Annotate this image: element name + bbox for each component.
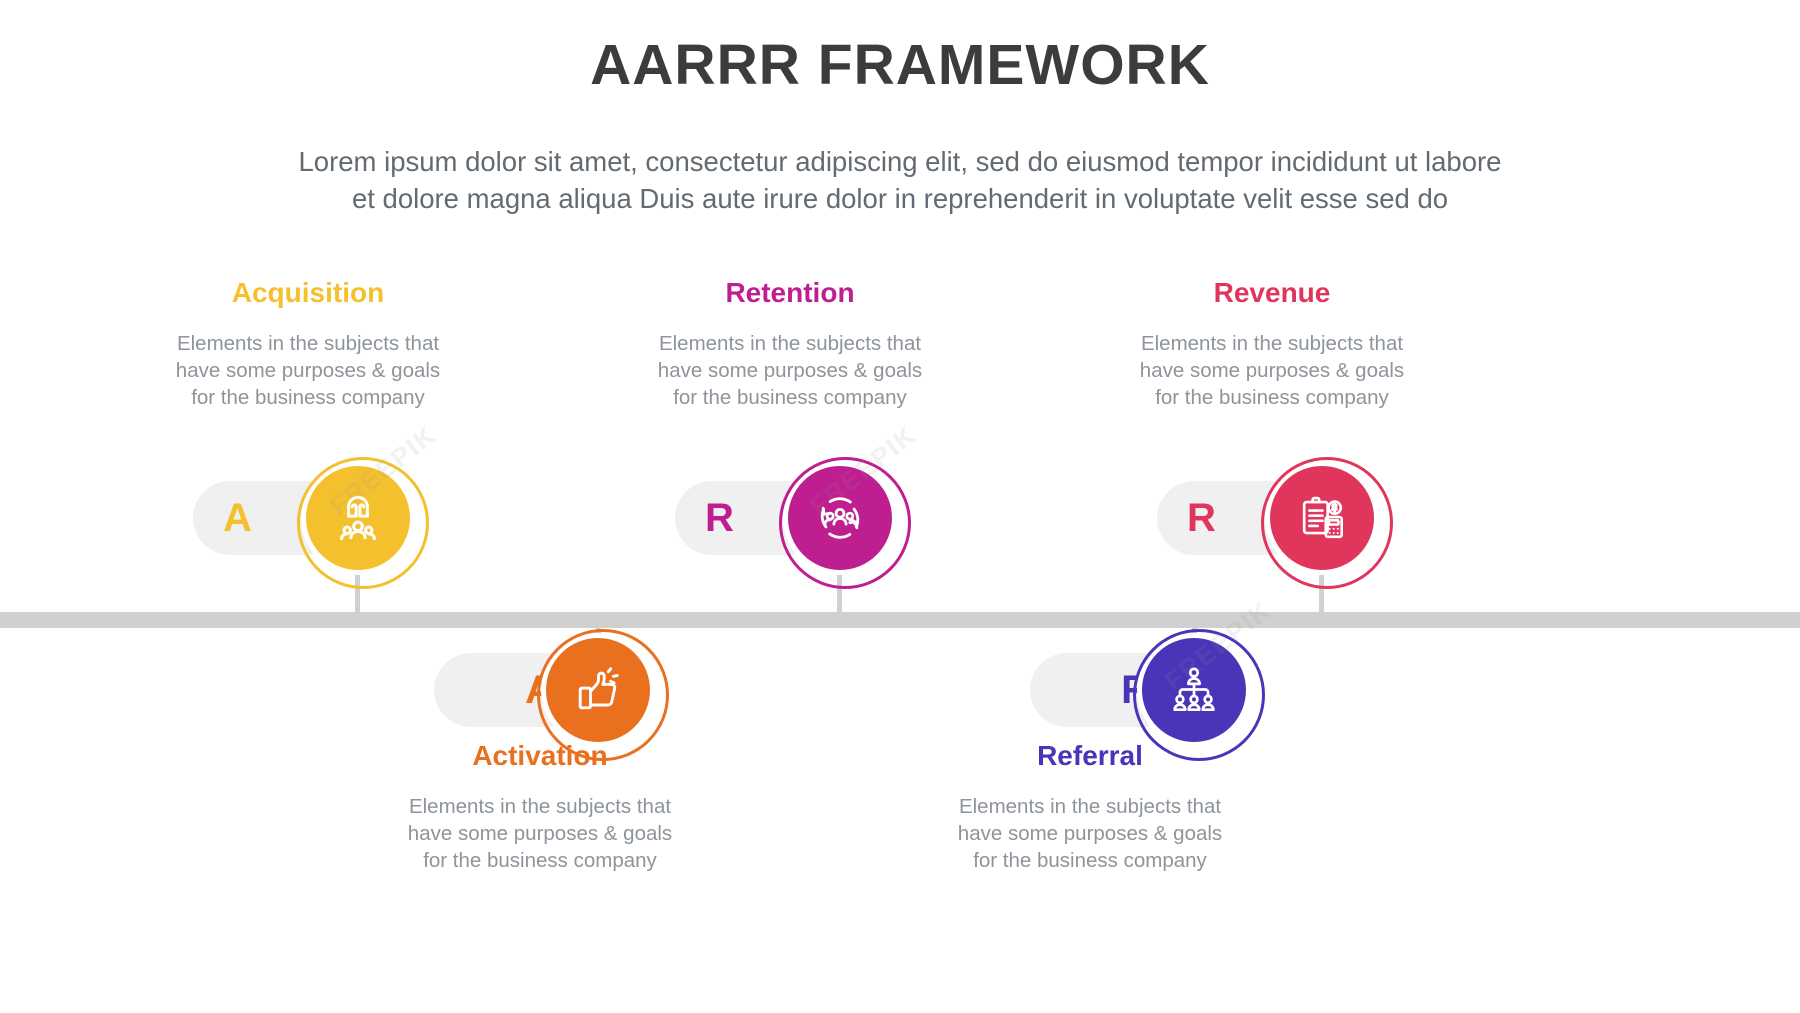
desc-line-1: Elements in the subjects that [1122,330,1422,357]
subtitle-line-1: Lorem ipsum dolor sit amet, consectetur … [50,143,1750,180]
stage-icon-circle-revenue[interactable] [1265,461,1379,575]
page-title: AARRR FRAMEWORK [0,36,1800,96]
desc-line-2: have some purposes & goals [158,357,458,384]
stage-description-revenue: Elements in the subjects that have some … [1122,330,1422,411]
stage-title-revenue: Revenue [1122,277,1422,309]
stage-icon-circle-referral[interactable] [1137,633,1251,747]
network-hierarchy-icon [1164,660,1224,720]
desc-line-1: Elements in the subjects that [640,330,940,357]
desc-line-3: for the business company [640,384,940,411]
stage-title-referral: Referral [940,740,1240,772]
stage-description-activation: Elements in the subjects that have some … [390,793,690,874]
badge-letter-acquisition: A [223,498,252,538]
page-subtitle: Lorem ipsum dolor sit amet, consectetur … [50,143,1750,217]
desc-line-2: have some purposes & goals [1122,357,1422,384]
thumbs-up-icon [568,660,628,720]
invoice-calculator-icon [1292,488,1352,548]
stage-description-referral: Elements in the subjects that have some … [940,793,1240,874]
users-refresh-icon [810,488,870,548]
desc-line-3: for the business company [158,384,458,411]
desc-line-2: have some purposes & goals [390,820,690,847]
infographic-canvas: AARRR FRAMEWORK Lorem ipsum dolor sit am… [0,0,1800,1013]
desc-line-1: Elements in the subjects that [940,793,1240,820]
stage-description-acquisition: Elements in the subjects that have some … [158,330,458,411]
desc-line-1: Elements in the subjects that [390,793,690,820]
desc-line-3: for the business company [940,847,1240,874]
desc-line-2: have some purposes & goals [940,820,1240,847]
timeline-bar [0,612,1800,628]
stage-title-activation: Activation [390,740,690,772]
magnet-audience-icon [328,488,388,548]
subtitle-line-2: et dolore magna aliqua Duis aute irure d… [50,180,1750,217]
desc-line-3: for the business company [390,847,690,874]
stage-description-retention: Elements in the subjects that have some … [640,330,940,411]
badge-letter-revenue: R [1187,498,1216,538]
desc-line-3: for the business company [1122,384,1422,411]
stage-icon-circle-activation[interactable] [541,633,655,747]
stage-title-retention: Retention [640,277,940,309]
stage-icon-circle-retention[interactable] [783,461,897,575]
stage-icon-circle-acquisition[interactable] [301,461,415,575]
badge-letter-retention: R [705,498,734,538]
stage-title-acquisition: Acquisition [158,277,458,309]
desc-line-2: have some purposes & goals [640,357,940,384]
desc-line-1: Elements in the subjects that [158,330,458,357]
